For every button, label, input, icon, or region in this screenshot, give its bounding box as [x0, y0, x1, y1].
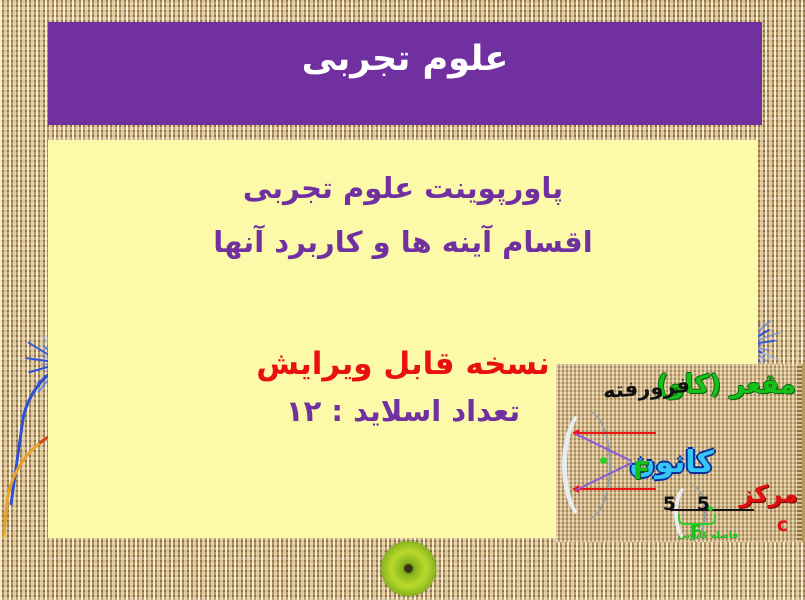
- label-center: مرکز: [739, 482, 798, 506]
- incident-ray-top: [578, 432, 656, 434]
- green-sphere-icon: [381, 541, 436, 596]
- label-focal-length-caption: فاصله کانونی: [678, 532, 738, 541]
- headline-line-1: پاورپوینت علوم تجربی: [48, 162, 758, 216]
- slide-title-bar: علوم تجربی: [48, 22, 762, 125]
- focal-point-dot: [600, 457, 607, 464]
- distance-number-left: 5: [697, 495, 710, 514]
- distance-number-right: 5: [663, 495, 676, 514]
- headline-block: پاورپوینت علوم تجربی اقسام آینه ها و کار…: [48, 162, 758, 269]
- headline-line-2: اقسام آینه ها و کاربرد آنها: [48, 216, 758, 270]
- presentation-slide: علوم تجربی پاورپوینت علوم تجربی اقسام آی…: [0, 0, 805, 600]
- concave-mirror-diagram: مقعر (کاو) فرورفته کانون F مرکز c 5 5 F …: [556, 364, 805, 542]
- label-center-letter: c: [777, 516, 788, 535]
- slide-title: علوم تجربی: [48, 40, 762, 79]
- concave-mirror-arc: [562, 408, 614, 522]
- incident-ray-bottom: [578, 488, 656, 490]
- label-focal-point-letter: F: [633, 458, 650, 483]
- overlay-edge-strip: [797, 364, 802, 542]
